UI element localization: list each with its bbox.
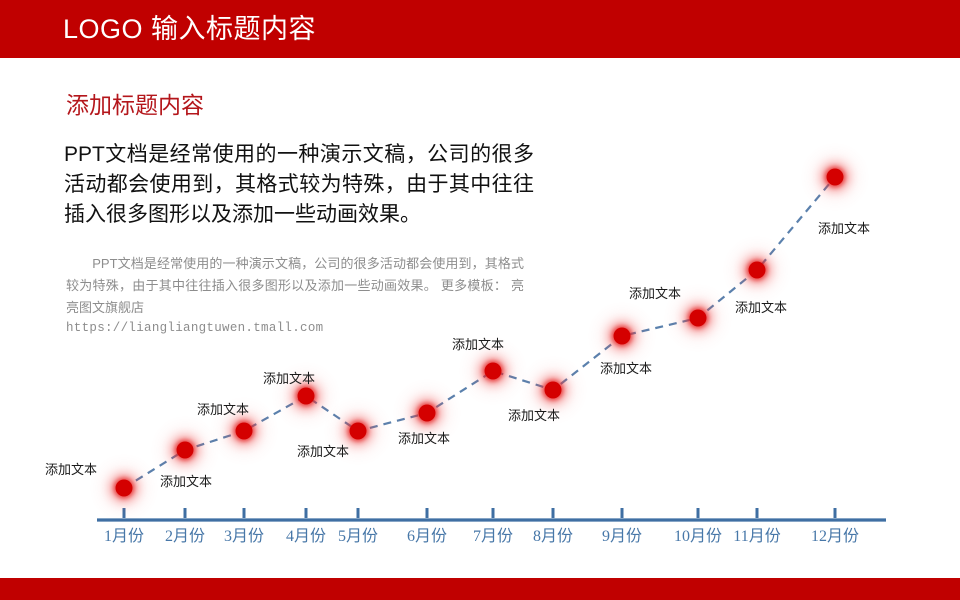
x-axis-label-5: 5月份 bbox=[338, 527, 378, 547]
x-axis-label-12: 12月份 bbox=[811, 527, 859, 547]
x-axis-label-7: 7月份 bbox=[473, 527, 513, 547]
slide-canvas: LOGO 输入标题内容 添加标题内容 PPT文档是经常使用的一种演示文稿，公司的… bbox=[0, 0, 960, 600]
x-axis-label-8: 8月份 bbox=[533, 527, 573, 547]
x-axis-label-4: 4月份 bbox=[286, 527, 326, 547]
x-axis-label-10: 10月份 bbox=[674, 527, 722, 547]
x-axis-label-1: 1月份 bbox=[104, 527, 144, 547]
x-axis-label-9: 9月份 bbox=[602, 527, 642, 547]
x-axis-label-6: 6月份 bbox=[407, 527, 447, 547]
footer-bar bbox=[0, 578, 960, 600]
x-axis-label-2: 2月份 bbox=[165, 527, 205, 547]
x-axis-label-11: 11月份 bbox=[733, 527, 780, 547]
chart-axis-labels-layer: 1月份2月份3月份4月份5月份6月份7月份8月份9月份10月份11月份12月份 bbox=[0, 0, 960, 600]
x-axis-label-3: 3月份 bbox=[224, 527, 264, 547]
